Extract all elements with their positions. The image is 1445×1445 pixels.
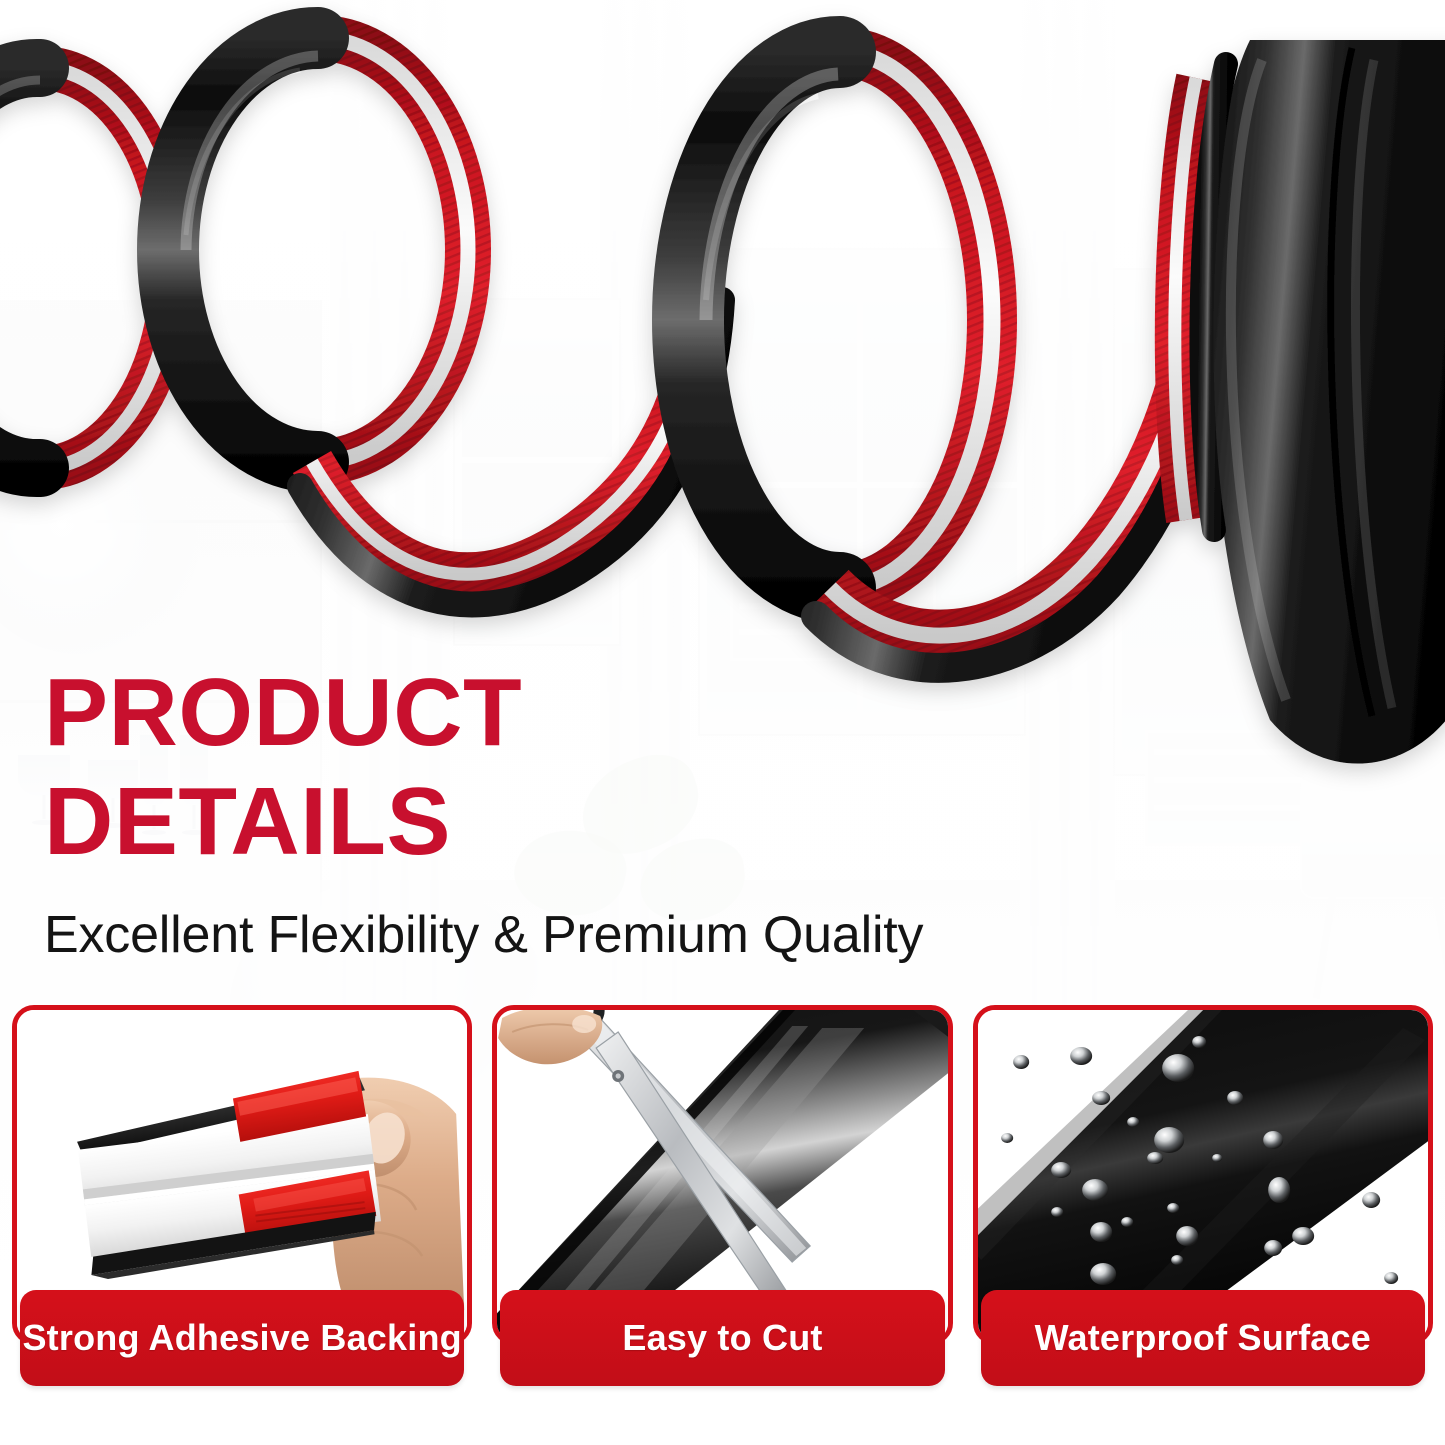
panel-caption-label: Easy to Cut (622, 1317, 822, 1359)
coil-loop-3 (688, 52, 992, 588)
feature-panel-waterproof: Waterproof Surface (969, 1000, 1437, 1400)
panel-caption-label: Strong Adhesive Backing (22, 1317, 461, 1359)
panel-caption-label: Waterproof Surface (1035, 1317, 1371, 1359)
product-detail-image: PRODUCT DETAILS Excellent Flexibility & … (0, 0, 1445, 1445)
panel-caption-waterproof: Waterproof Surface (981, 1290, 1425, 1386)
page-title: PRODUCT DETAILS (44, 658, 522, 877)
feature-panel-cut: Easy to Cut (488, 1000, 956, 1400)
page-subtitle: Excellent Flexibility & Premium Quality (44, 905, 923, 965)
page-title-line-2: DETAILS (44, 767, 522, 876)
feature-panel-row: Strong Adhesive Backing (0, 1000, 1445, 1445)
feature-panel-adhesive: Strong Adhesive Backing (8, 1000, 476, 1400)
panel-caption-cut: Easy to Cut (500, 1290, 944, 1386)
coil-loop-2 (168, 38, 468, 462)
page-title-line-1: PRODUCT (44, 658, 522, 767)
panel-caption-adhesive: Strong Adhesive Backing (20, 1290, 464, 1386)
coil-loop-4 (1175, 40, 1445, 764)
